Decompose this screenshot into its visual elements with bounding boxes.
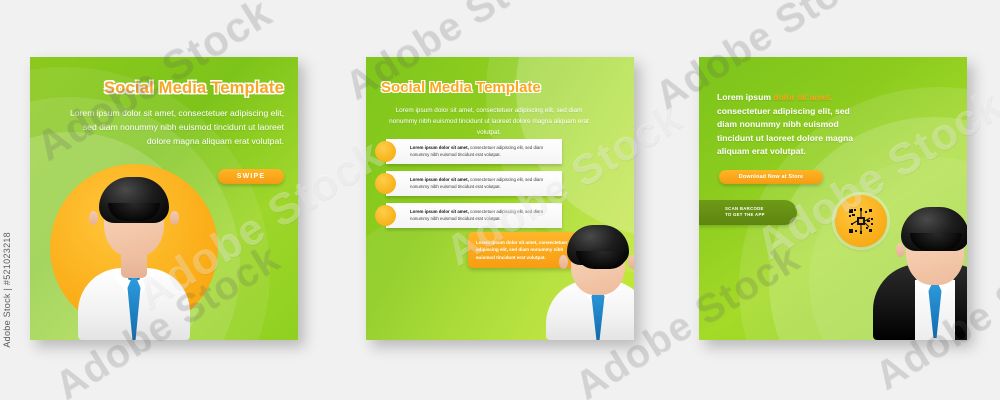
card-3-body-lead: Lorem ipsum [717, 92, 773, 102]
avatar-hair [567, 225, 629, 265]
bullet-circle-icon [375, 205, 396, 226]
template-card-2[interactable]: Social Media Template Lorem ipsum dolor … [366, 57, 634, 340]
list-item-text: Lorem ipsum dolor sit amet, consectetuer… [410, 177, 557, 191]
avatar-ear-left [89, 211, 98, 225]
avatar-hair [901, 207, 967, 251]
avatar-businessman [875, 207, 967, 340]
template-card-3[interactable]: Lorem ipsum dolor sit amet, consectetuer… [699, 57, 967, 340]
avatar-businessman [70, 165, 198, 340]
avatar-ear-right [170, 211, 179, 225]
list-item[interactable]: Lorem ipsum dolor sit amet, consectetuer… [386, 171, 562, 196]
card-3-body-accent: dolor sit amet, [773, 92, 832, 102]
card-3-body-text: Lorem ipsum dolor sit amet, consectetuer… [717, 91, 867, 159]
list-item-lead: Lorem ipsum dolor sit amet, [410, 209, 469, 214]
stock-id-label: Adobe Stock | #521023218 [2, 232, 12, 348]
swipe-button[interactable]: SWIPE [218, 169, 284, 184]
card-1-title: Social Media Template [104, 79, 284, 98]
list-item-text: Lorem ipsum dolor sit amet, consectetuer… [410, 209, 557, 223]
bullet-circle-icon [375, 141, 396, 162]
download-now-button[interactable]: Download Now at Store [719, 170, 823, 184]
bullet-circle-icon [375, 173, 396, 194]
scan-barcode-tab[interactable]: SCAN BARCODE TO GET THE APP [699, 200, 797, 225]
qr-code-icon [845, 205, 877, 237]
scan-line-2: TO GET THE APP [725, 212, 765, 218]
list-item[interactable]: Lorem ipsum dolor sit amet, consectetuer… [386, 139, 562, 164]
template-card-1[interactable]: Social Media Template Lorem ipsum dolor … [30, 57, 298, 340]
card-2-body-text: Lorem ipsum dolor sit amet, consectetuer… [381, 105, 597, 138]
card-1-body-text: Lorem ipsum dolor sit amet, consectetuer… [62, 107, 284, 149]
scan-barcode-label: SCAN BARCODE TO GET THE APP [725, 206, 765, 219]
avatar-hair [99, 177, 169, 223]
list-item[interactable]: Lorem ipsum dolor sit amet, consectetuer… [386, 203, 562, 228]
avatar-businessman [542, 225, 634, 340]
avatar-ear-left [559, 255, 568, 269]
list-item-lead: Lorem ipsum dolor sit amet, [410, 177, 469, 182]
avatar-ear-right [628, 255, 634, 269]
list-item-text: Lorem ipsum dolor sit amet, consectetuer… [410, 145, 557, 159]
card-2-title: Social Media Template [381, 79, 541, 96]
list-item-lead: Lorem ipsum dolor sit amet, [410, 145, 469, 150]
card-3-body-rest: consectetuer adipiscing elit, sed diam n… [717, 106, 853, 157]
